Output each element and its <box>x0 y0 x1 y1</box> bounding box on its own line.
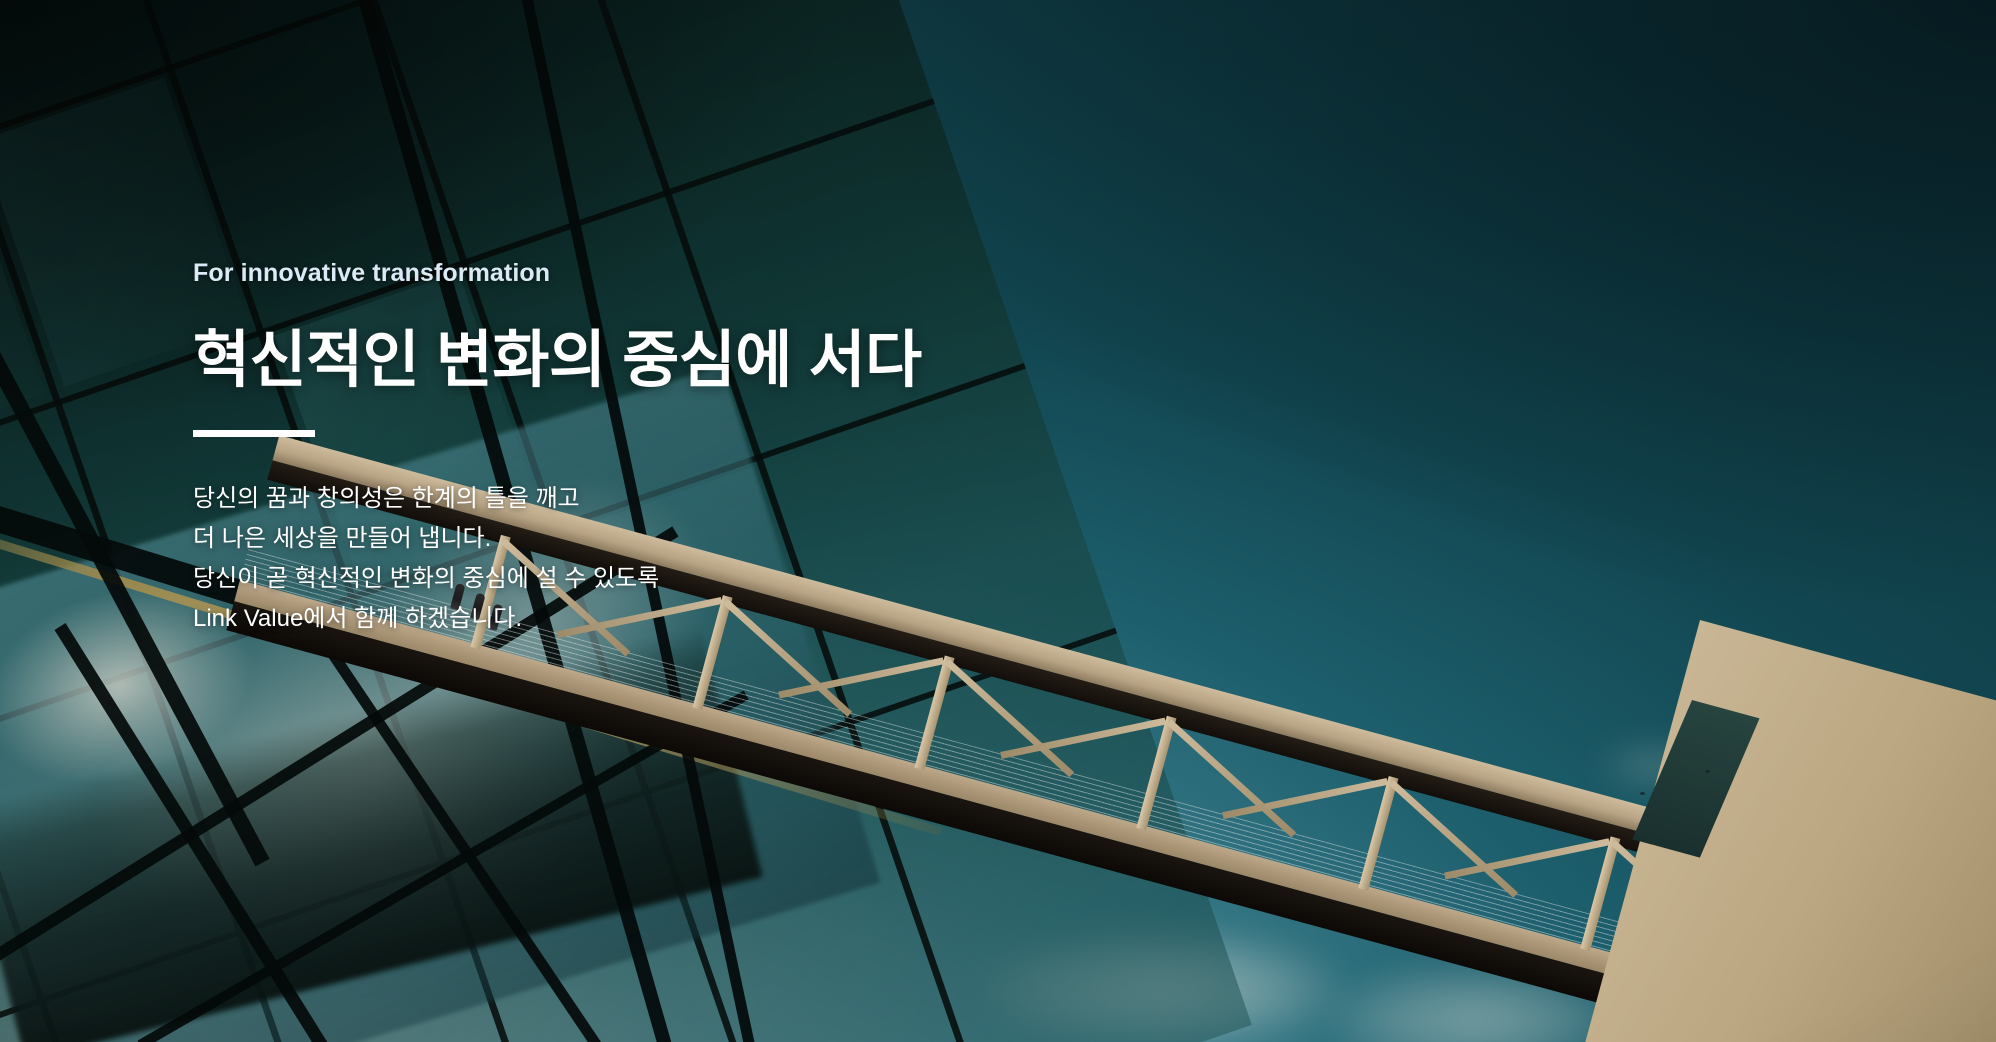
hero-headline: 혁신적인 변화의 중심에 서다 <box>193 328 1193 394</box>
hero-body-line: 당신의 꿈과 창의성은 한계의 틀을 깨고 <box>193 479 1193 519</box>
hero-body-copy: 당신의 꿈과 창의성은 한계의 틀을 깨고 더 나은 세상을 만들어 냅니다. … <box>193 479 1193 639</box>
hero-body-line: 더 나은 세상을 만들어 냅니다. <box>193 519 1193 559</box>
hero-divider-rule <box>193 430 315 437</box>
hero-copy-block: For innovative transformation 혁신적인 변화의 중… <box>193 258 1193 639</box>
hero-body-line: 당신이 곧 혁신적인 변화의 중심에 설 수 있도록 <box>193 559 1193 599</box>
hero-body-line: Link Value에서 함께 하겠습니다. <box>193 599 1193 639</box>
hero-banner: For innovative transformation 혁신적인 변화의 중… <box>0 0 1996 1042</box>
hero-eyebrow: For innovative transformation <box>193 258 1193 288</box>
